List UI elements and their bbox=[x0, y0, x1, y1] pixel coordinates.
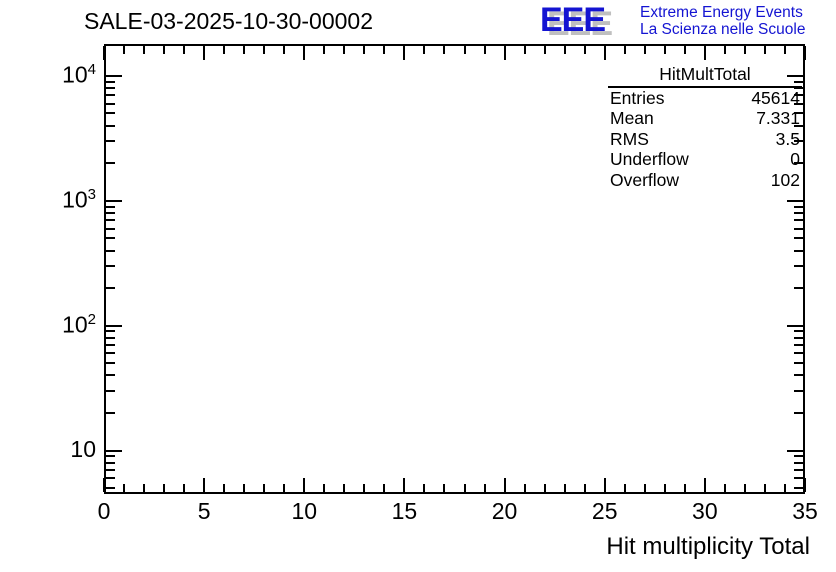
x-axis-tick-top bbox=[564, 46, 566, 54]
x-axis-tick-top bbox=[584, 46, 586, 54]
x-axis-tick bbox=[423, 484, 425, 492]
x-axis-tick-top bbox=[443, 46, 445, 54]
x-axis-tick-top bbox=[183, 46, 185, 54]
stats-row-key: RMS bbox=[610, 129, 649, 150]
x-axis-tick bbox=[363, 484, 365, 492]
y-axis-tick bbox=[106, 112, 115, 114]
x-axis-tick-top bbox=[644, 46, 646, 54]
x-axis-tick bbox=[103, 478, 105, 492]
x-axis-tick-top bbox=[123, 46, 125, 54]
x-axis-tick-top bbox=[744, 46, 746, 54]
y-axis-tick-right bbox=[794, 228, 803, 230]
y-axis-tick bbox=[106, 94, 115, 96]
y-axis-tick-right bbox=[794, 219, 803, 221]
x-axis-tick bbox=[323, 484, 325, 492]
stats-row-key: Entries bbox=[610, 88, 664, 109]
x-axis-tick bbox=[744, 484, 746, 492]
x-axis-title: Hit multiplicity Total bbox=[606, 533, 810, 561]
x-axis-tick-label: 20 bbox=[492, 498, 518, 525]
x-axis-tick-top bbox=[223, 46, 225, 54]
stats-row: Overflow102 bbox=[608, 170, 802, 191]
x-axis-tick-top bbox=[143, 46, 145, 54]
stats-row-value: 0 bbox=[790, 149, 800, 170]
y-axis-tick bbox=[106, 337, 115, 339]
y-axis-tick bbox=[106, 219, 115, 221]
y-axis-tick-right bbox=[794, 412, 803, 414]
x-axis-tick-top bbox=[283, 46, 285, 54]
y-axis-tick-right bbox=[787, 200, 803, 202]
stats-row-value: 102 bbox=[771, 170, 800, 191]
x-axis-tick bbox=[504, 478, 506, 492]
x-axis-tick bbox=[784, 484, 786, 492]
x-axis-tick bbox=[383, 484, 385, 492]
x-axis-tick bbox=[443, 484, 445, 492]
stats-row-key: Mean bbox=[610, 108, 654, 129]
eee-logo: EEE EEE Extreme Energy Events La Scienza… bbox=[540, 2, 836, 42]
stats-row: Entries45614 bbox=[608, 88, 802, 109]
x-axis-tick bbox=[704, 478, 706, 492]
y-axis-tick bbox=[106, 344, 115, 346]
x-axis-tick bbox=[644, 484, 646, 492]
y-axis-tick-right bbox=[794, 250, 803, 252]
y-axis-tick bbox=[106, 206, 115, 208]
y-axis-tick-label: 102 bbox=[62, 311, 96, 339]
x-axis-tick bbox=[624, 484, 626, 492]
y-axis-tick bbox=[106, 81, 115, 83]
x-axis-tick-label: 35 bbox=[792, 498, 818, 525]
x-axis-tick-top bbox=[764, 46, 766, 54]
x-axis-tick bbox=[143, 484, 145, 492]
x-axis-tick bbox=[283, 484, 285, 492]
stats-row: Mean7.331 bbox=[608, 108, 802, 129]
x-axis-tick bbox=[223, 484, 225, 492]
x-axis-tick bbox=[524, 484, 526, 492]
y-axis-tick bbox=[106, 228, 115, 230]
y-axis-tick bbox=[106, 362, 115, 364]
x-axis-tick-label: 10 bbox=[291, 498, 317, 525]
x-axis-tick-top bbox=[243, 46, 245, 54]
x-axis-tick bbox=[684, 484, 686, 492]
x-axis-tick-top bbox=[784, 46, 786, 54]
x-axis-tick-top bbox=[303, 46, 305, 60]
stats-row-key: Overflow bbox=[610, 170, 679, 191]
y-axis-tick bbox=[106, 477, 115, 479]
y-axis-tick bbox=[106, 87, 115, 89]
y-axis-tick bbox=[106, 455, 115, 457]
x-axis-tick bbox=[724, 484, 726, 492]
y-axis-tick bbox=[106, 200, 122, 202]
x-axis-tick-label: 30 bbox=[692, 498, 718, 525]
y-axis-tick bbox=[106, 469, 115, 471]
x-axis-tick bbox=[764, 484, 766, 492]
y-axis-tick-right bbox=[794, 337, 803, 339]
x-axis-tick bbox=[564, 484, 566, 492]
x-axis-tick bbox=[243, 484, 245, 492]
x-axis-tick-top bbox=[363, 46, 365, 54]
x-axis-tick bbox=[584, 484, 586, 492]
y-axis-tick bbox=[106, 125, 115, 127]
y-axis-tick-right bbox=[794, 469, 803, 471]
y-axis-tick bbox=[106, 103, 115, 105]
x-axis-tick bbox=[804, 478, 806, 492]
y-axis-tick-right bbox=[787, 325, 803, 327]
stats-row-value: 7.331 bbox=[756, 108, 800, 129]
x-axis-tick-top bbox=[724, 46, 726, 54]
x-axis-tick bbox=[664, 484, 666, 492]
eee-logo-line2: La Scienza nelle Scuole bbox=[640, 21, 805, 38]
y-axis-tick-right bbox=[794, 344, 803, 346]
stats-box-rows: Entries45614Mean7.331RMS3.5Underflow0Ove… bbox=[608, 88, 802, 191]
y-axis-tick bbox=[106, 140, 115, 142]
x-axis-tick-top bbox=[103, 46, 105, 60]
x-axis-tick bbox=[604, 478, 606, 492]
y-axis-tick-right bbox=[794, 206, 803, 208]
eee-logo-mark: EEE EEE bbox=[540, 3, 636, 37]
x-axis-tick-top bbox=[524, 46, 526, 54]
x-axis-tick-top bbox=[504, 46, 506, 60]
x-axis-tick-top bbox=[323, 46, 325, 54]
x-axis-tick-top bbox=[704, 46, 706, 60]
y-axis-tick-right bbox=[794, 212, 803, 214]
x-axis-tick bbox=[303, 478, 305, 492]
x-axis-tick bbox=[163, 484, 165, 492]
y-axis-tick-right bbox=[794, 287, 803, 289]
y-axis-tick-right bbox=[794, 330, 803, 332]
x-axis-tick-top bbox=[464, 46, 466, 54]
y-axis-tick bbox=[106, 330, 115, 332]
x-axis-tick bbox=[123, 484, 125, 492]
y-axis-tick-right bbox=[794, 362, 803, 364]
x-axis-tick-top bbox=[163, 46, 165, 54]
x-axis-tick bbox=[203, 478, 205, 492]
y-axis-tick bbox=[106, 450, 122, 452]
x-axis-tick bbox=[484, 484, 486, 492]
eee-logo-mark-front: EEE bbox=[540, 3, 605, 37]
y-axis-tick-right bbox=[794, 487, 803, 489]
y-axis-tick-right bbox=[794, 374, 803, 376]
y-axis-tick-right bbox=[794, 477, 803, 479]
x-axis-tick-top bbox=[383, 46, 385, 54]
x-axis-tick bbox=[403, 478, 405, 492]
stats-box-title: HitMultTotal bbox=[608, 64, 802, 88]
x-axis-tick-top bbox=[804, 46, 806, 60]
stats-box: HitMultTotal Entries45614Mean7.331RMS3.5… bbox=[608, 64, 802, 190]
x-axis-tick-top bbox=[624, 46, 626, 54]
y-axis-tick-right bbox=[794, 265, 803, 267]
y-axis-tick bbox=[106, 250, 115, 252]
x-axis-tick-label: 25 bbox=[592, 498, 618, 525]
y-axis-tick bbox=[106, 265, 115, 267]
y-axis-tick-right bbox=[794, 455, 803, 457]
x-axis-tick bbox=[464, 484, 466, 492]
stats-row-value: 45614 bbox=[751, 88, 800, 109]
x-axis-tick-top bbox=[403, 46, 405, 60]
x-axis-tick-label: 15 bbox=[392, 498, 418, 525]
x-axis-tick-label: 5 bbox=[198, 498, 211, 525]
y-axis-tick bbox=[106, 237, 115, 239]
x-axis-tick-top bbox=[684, 46, 686, 54]
x-axis-tick-top bbox=[343, 46, 345, 54]
x-axis-tick-top bbox=[423, 46, 425, 54]
eee-logo-line1: Extreme Energy Events bbox=[640, 4, 803, 21]
x-axis-tick bbox=[343, 484, 345, 492]
stats-row: RMS3.5 bbox=[608, 129, 802, 150]
y-axis-tick-right bbox=[794, 462, 803, 464]
x-axis-tick bbox=[183, 484, 185, 492]
y-axis-tick-label: 104 bbox=[62, 61, 96, 89]
y-axis-tick bbox=[106, 462, 115, 464]
y-axis-tick-right bbox=[787, 450, 803, 452]
x-axis-tick bbox=[263, 484, 265, 492]
y-axis-tick-right bbox=[794, 352, 803, 354]
y-axis-tick-label: 103 bbox=[62, 186, 96, 214]
x-axis-tick-label: 0 bbox=[98, 498, 111, 525]
y-axis-tick bbox=[106, 162, 115, 164]
y-axis-tick bbox=[106, 75, 122, 77]
y-axis-tick bbox=[106, 287, 115, 289]
x-axis-tick-top bbox=[484, 46, 486, 54]
y-axis-tick bbox=[106, 412, 115, 414]
stats-row-value: 3.5 bbox=[776, 129, 800, 150]
x-axis-tick bbox=[544, 484, 546, 492]
x-axis-tick-top bbox=[544, 46, 546, 54]
y-axis-tick-label: 10 bbox=[70, 436, 96, 463]
x-axis-tick-top bbox=[263, 46, 265, 54]
y-axis-tick-right bbox=[794, 237, 803, 239]
stats-row-key: Underflow bbox=[610, 149, 689, 170]
y-axis-tick bbox=[106, 352, 115, 354]
y-axis-tick bbox=[106, 212, 115, 214]
y-axis-tick bbox=[106, 374, 115, 376]
x-axis-tick-top bbox=[604, 46, 606, 60]
x-axis-tick-top bbox=[664, 46, 666, 54]
y-axis-tick-right bbox=[794, 390, 803, 392]
x-axis-tick-top bbox=[203, 46, 205, 60]
y-axis-tick bbox=[106, 325, 122, 327]
y-axis-tick bbox=[106, 390, 115, 392]
y-axis-tick bbox=[106, 487, 115, 489]
page-title: SALE-03-2025-10-30-00002 bbox=[84, 8, 373, 35]
stats-row: Underflow0 bbox=[608, 149, 802, 170]
